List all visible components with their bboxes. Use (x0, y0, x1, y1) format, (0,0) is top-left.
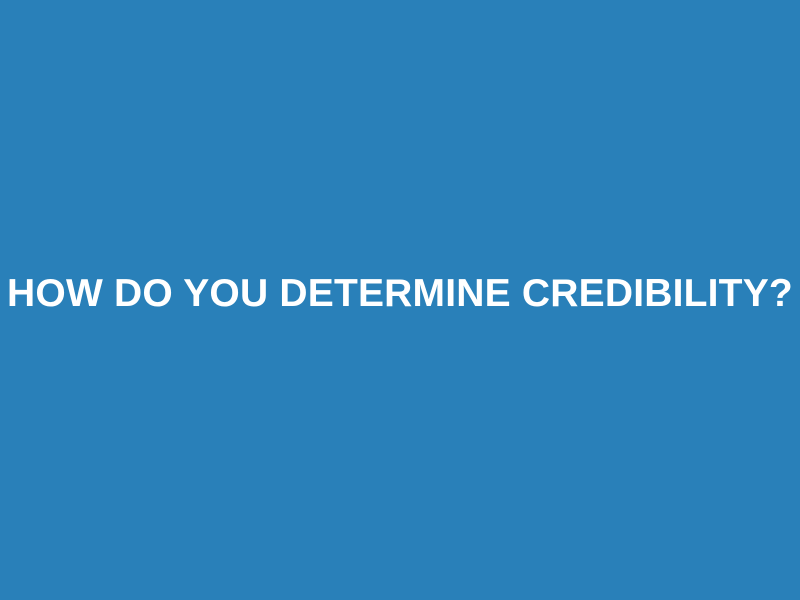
page-title: How do you determine credibility? (7, 272, 793, 317)
featured-image-banner: How do you determine credibility? (0, 0, 800, 600)
title-container: How do you determine credibility? (0, 0, 800, 588)
